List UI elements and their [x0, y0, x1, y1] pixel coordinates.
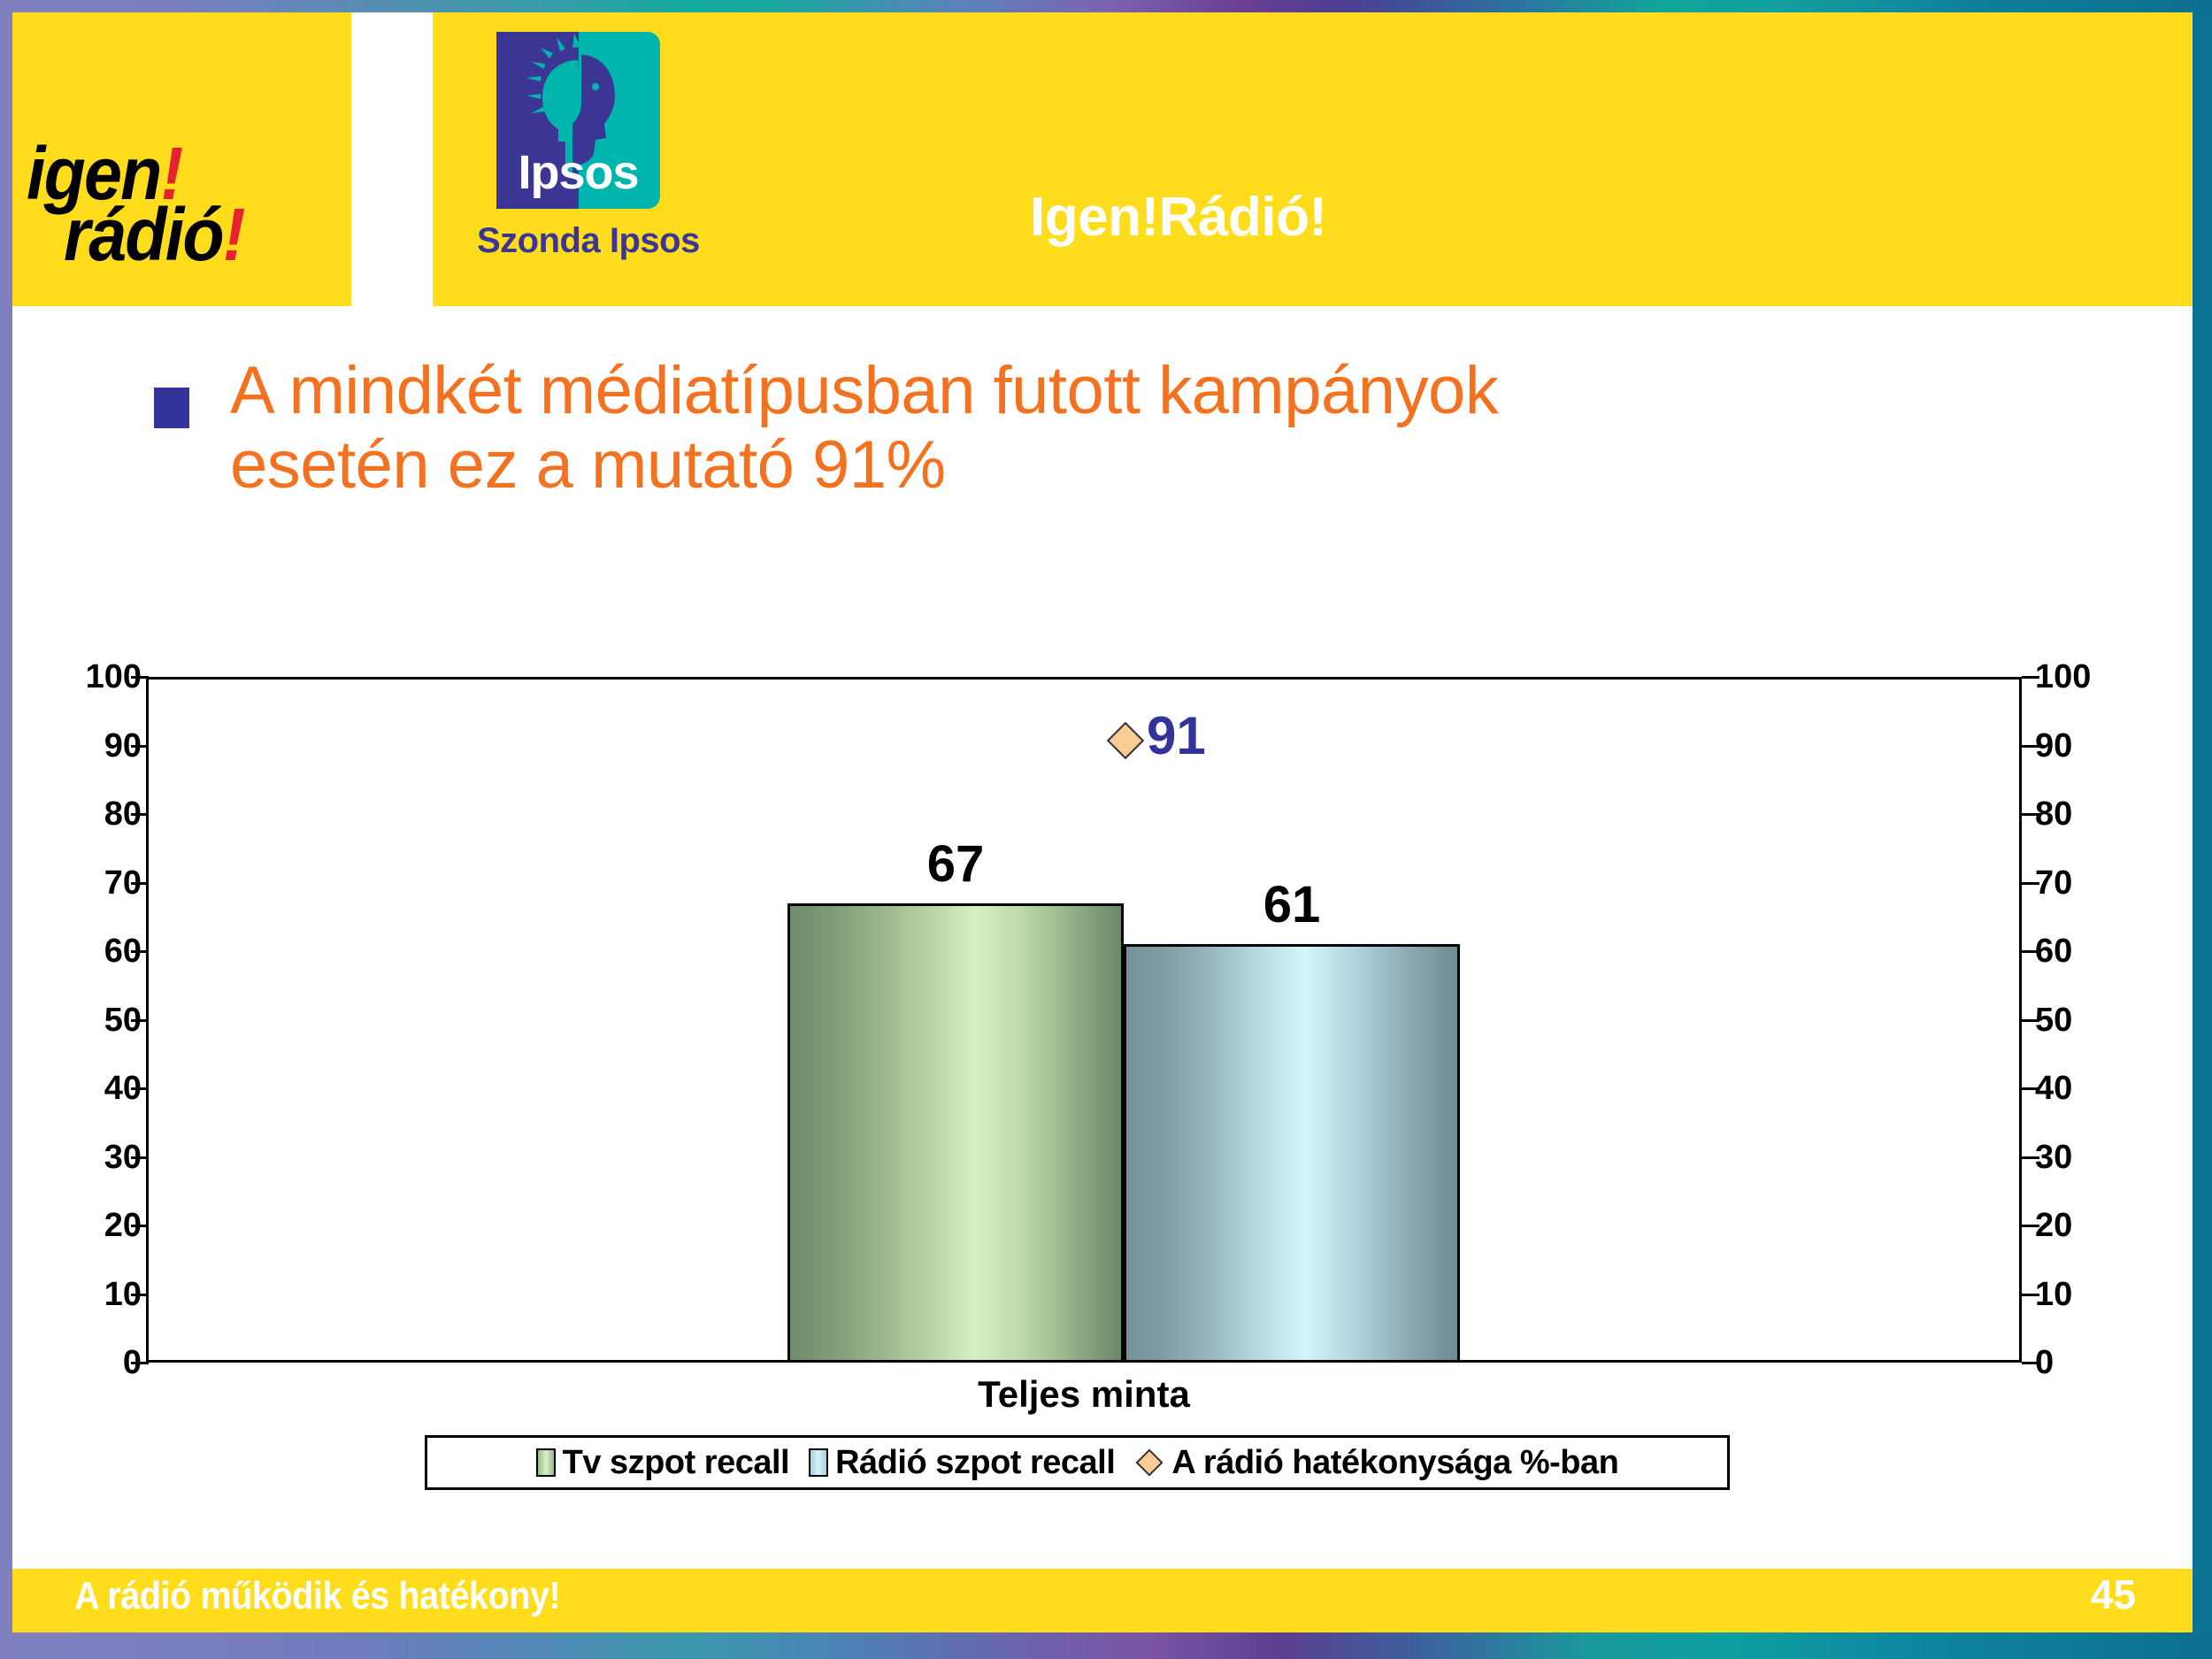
legend-item-radio[interactable]: Rádió szpot recall	[809, 1444, 1115, 1482]
y-axis-right-tick-50: 50	[2035, 1003, 2124, 1037]
y-axis-left-tick-40: 40	[53, 1071, 142, 1105]
tick-mark-right-20	[2022, 1225, 2039, 1227]
y-axis-left-tick-100: 100	[53, 660, 142, 694]
slide-header: igen! rádió!	[12, 12, 2193, 306]
y-axis-left-tick-10: 10	[53, 1278, 142, 1311]
left-edge-strip	[0, 12, 12, 1632]
bar-tv-szpot-recall[interactable]	[787, 903, 1124, 1363]
x-axis-title: Teljes minta	[146, 1373, 2022, 1416]
tick-mark-right-80	[2022, 813, 2039, 816]
legend-label-radio: Rádió szpot recall	[835, 1444, 1115, 1482]
legend-swatch-green-icon	[536, 1448, 556, 1477]
page-title: Igen!Rádió!	[1030, 186, 1326, 249]
bar-value-label-radio: 61	[1221, 875, 1363, 934]
y-axis-right-tick-10: 10	[2035, 1278, 2124, 1311]
y-axis-right-tick-90: 90	[2035, 729, 2124, 763]
y-axis-left-tick-20: 20	[53, 1209, 142, 1242]
tick-mark-right-90	[2022, 745, 2039, 748]
bar-chart: 1009080706050403020100 10090807060504030…	[53, 655, 2159, 1548]
igen-radio-logo-wordmark: igen! rádió!	[27, 143, 345, 265]
y-axis-left: 1009080706050403020100	[53, 677, 142, 1363]
legend-swatch-blue-icon	[809, 1448, 828, 1477]
y-axis-left-tick-30: 30	[53, 1141, 142, 1174]
y-axis-right: 1009080706050403020100	[2035, 677, 2124, 1363]
tick-mark-right-40	[2022, 1087, 2039, 1090]
bullet-text: A mindkét médiatípusban futott kampányok…	[230, 354, 2141, 502]
slide-root: igen! rádió!	[0, 0, 2212, 1659]
ipsos-wordmark: Ipsos	[505, 149, 651, 196]
y-axis-left-tick-90: 90	[53, 729, 142, 763]
tick-mark-right-0	[2022, 1362, 2039, 1364]
igen-radio-logo-line2: rádió!	[64, 204, 323, 265]
legend-item-tv[interactable]: Tv szpot recall	[536, 1444, 789, 1482]
efficiency-diamond-marker-icon[interactable]	[1107, 722, 1144, 759]
y-axis-right-tick-70: 70	[2035, 866, 2124, 900]
chart-bars-layer: 676191	[146, 677, 2022, 1363]
y-axis-right-tick-30: 30	[2035, 1141, 2124, 1174]
y-axis-right-tick-40: 40	[2035, 1071, 2124, 1105]
top-gradient-strip	[0, 0, 2212, 12]
tick-mark-right-60	[2022, 950, 2039, 953]
y-axis-right-tick-80: 80	[2035, 797, 2124, 831]
legend-diamond-icon	[1136, 1448, 1164, 1476]
y-axis-left-tick-70: 70	[53, 866, 142, 900]
chart-legend: Tv szpot recall Rádió szpot recall A rád…	[425, 1435, 1730, 1490]
bar-value-label-tv: 67	[885, 834, 1026, 894]
ipsos-logo-mark: Ipsos	[496, 32, 660, 209]
bullet-square-icon	[154, 388, 189, 428]
y-axis-right-tick-20: 20	[2035, 1209, 2124, 1242]
legend-item-efficiency[interactable]: A rádió hatékonysága %-ban	[1134, 1444, 1618, 1482]
radio-word: rádió	[64, 193, 223, 276]
y-axis-right-tick-0: 0	[2035, 1346, 2124, 1379]
right-edge-strip	[2193, 12, 2212, 1632]
legend-label-tv: Tv szpot recall	[563, 1444, 789, 1482]
tick-mark-right-100	[2022, 676, 2039, 679]
y-axis-left-tick-80: 80	[53, 797, 142, 831]
bar-radio-szpot-recall[interactable]	[1124, 944, 1460, 1363]
legend-label-efficiency: A rádió hatékonysága %-ban	[1171, 1444, 1618, 1482]
bullet-text-line1: A mindkét médiatípusban futott kampányok	[230, 353, 1498, 428]
y-axis-right-tick-60: 60	[2035, 934, 2124, 968]
tick-mark-right-70	[2022, 882, 2039, 885]
footer-tagline: A rádió működik és hatékony!	[74, 1574, 560, 1618]
slide-footer: A rádió működik és hatékony! 45	[12, 1569, 2193, 1632]
y-axis-left-tick-50: 50	[53, 1003, 142, 1037]
bullet-text-line2: esetén ez a mutató 91%	[230, 428, 2141, 503]
y-axis-left-tick-0: 0	[53, 1346, 142, 1379]
y-axis-right-tick-100: 100	[2035, 660, 2124, 694]
radio-exclamation: !	[223, 193, 244, 276]
bottom-gradient-strip	[0, 1632, 2212, 1659]
bullet-block: A mindkét médiatípusban futott kampányok…	[133, 354, 2141, 502]
tick-mark-right-50	[2022, 1019, 2039, 1022]
tick-mark-right-30	[2022, 1156, 2039, 1159]
tick-mark-right-10	[2022, 1294, 2039, 1296]
igen-radio-logo: igen! rádió!	[12, 12, 351, 306]
szonda-ipsos-label: Szonda Ipsos	[477, 221, 700, 261]
y-axis-left-tick-60: 60	[53, 934, 142, 968]
page-number: 45	[2091, 1571, 2136, 1618]
efficiency-value-label: 91	[1147, 705, 1206, 766]
ipsos-logo: Ipsos Szonda Ipsos	[433, 12, 804, 306]
